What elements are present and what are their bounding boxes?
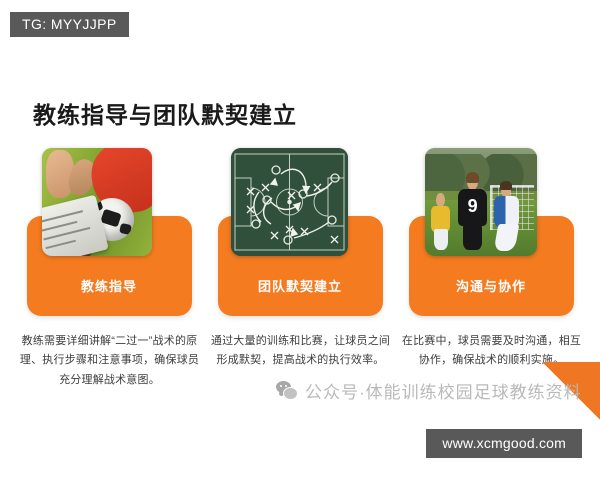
match-players-photo: 9 xyxy=(425,148,537,256)
wechat-icon xyxy=(276,381,298,400)
coach-clipboard-photo xyxy=(42,148,152,256)
site-url-badge: www.xcmgood.com xyxy=(426,429,582,458)
card-caption: 教练需要详细讲解“二过一”战术的原理、执行步骤和注意事项，确保球员充分理解战术意… xyxy=(15,332,205,390)
card-label: 教练指导 xyxy=(27,276,192,295)
page-title: 教练指导与团队默契建立 xyxy=(33,96,297,130)
card-caption: 通过大量的训练和比赛，让球员之间形成默契，提高战术的执行效率。 xyxy=(206,332,396,371)
card-label: 沟通与协作 xyxy=(409,276,574,295)
tactics-board-photo xyxy=(231,148,348,256)
slide-canvas: TG: MYYJJPP 教练指导与团队默契建立 教练指导 教练需要详细讲解“二过… xyxy=(0,0,600,480)
wechat-watermark-text: 公众号·体能训练校园足球教练资料 xyxy=(305,378,582,403)
card-label: 团队默契建立 xyxy=(218,276,383,295)
tactics-diagram-icon xyxy=(231,148,348,256)
tg-watermark-badge: TG: MYYJJPP xyxy=(10,12,129,37)
jersey-number: 9 xyxy=(458,197,487,215)
wechat-watermark: 公众号·体能训练校园足球教练资料 xyxy=(276,378,582,403)
